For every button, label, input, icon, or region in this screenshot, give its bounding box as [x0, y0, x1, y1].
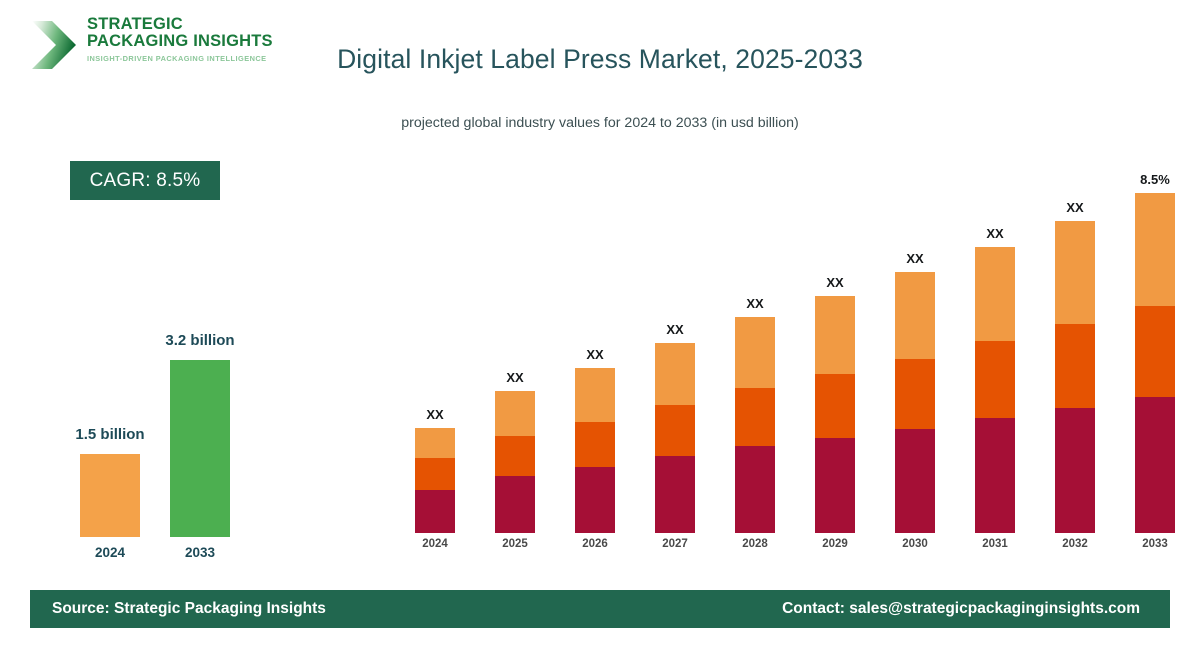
stacked-bar-segment-segment-top: [1055, 221, 1095, 324]
stacked-bar-segment-segment-bottom: [1055, 408, 1095, 533]
stacked-bar-column: XX2031: [975, 190, 1015, 550]
stacked-bar-value-label: XX: [565, 347, 625, 362]
stacked-bar-column: XX2027: [655, 190, 695, 550]
stacked-bar-value-label: XX: [725, 296, 785, 311]
stacked-bar-segment-segment-middle: [415, 458, 455, 490]
stacked-bar-column: XX2024: [415, 190, 455, 550]
stacked-bar-segment-segment-top: [975, 247, 1015, 341]
stacked-bar-year-label: 2032: [1045, 538, 1105, 550]
stacked-bar-segment-segment-top: [655, 343, 695, 405]
stacked-bar: [895, 272, 935, 533]
stacked-bar-segment-segment-bottom: [495, 476, 535, 533]
stacked-bar-column: XX2032: [1055, 190, 1095, 550]
stacked-bar-segment-segment-bottom: [1135, 397, 1175, 533]
stacked-bar-segment-segment-top: [735, 317, 775, 388]
stacked-bar-segment-segment-bottom: [895, 429, 935, 533]
stacked-bar-column: XX2030: [895, 190, 935, 550]
stacked-bar-year-label: 2025: [485, 538, 545, 550]
stacked-bar-segment-segment-bottom: [975, 418, 1015, 533]
stacked-bar-year-label: 2029: [805, 538, 865, 550]
stacked-bar-segment-segment-middle: [815, 374, 855, 438]
stacked-bar: [815, 296, 855, 533]
stacked-bar: [1135, 193, 1175, 533]
stacked-bar-year-label: 2030: [885, 538, 945, 550]
stacked-bar-column: 8.5%2033: [1135, 190, 1175, 550]
stacked-bar-segment-segment-middle: [895, 359, 935, 429]
stacked-bar-value-label: XX: [1045, 200, 1105, 215]
stacked-bar-segment-segment-top: [895, 272, 935, 359]
stacked-bar-column: XX2029: [815, 190, 855, 550]
stacked-bar: [495, 391, 535, 533]
stacked-bar-value-label: XX: [885, 251, 945, 266]
stacked-bar-segment-segment-bottom: [735, 446, 775, 533]
stacked-bar-segment-segment-top: [495, 391, 535, 436]
stacked-bar-segment-segment-top: [1135, 193, 1175, 306]
stacked-bar-column: XX2025: [495, 190, 535, 550]
stacked-bar-column: XX2028: [735, 190, 775, 550]
stacked-bar-value-label: XX: [965, 226, 1025, 241]
stacked-bar-segment-segment-middle: [575, 422, 615, 467]
stacked-bar-segment-segment-top: [575, 368, 615, 422]
stacked-bar-year-label: 2033: [1125, 538, 1185, 550]
infographic-page: STRATEGIC PACKAGING INSIGHTS INSIGHT-DRI…: [0, 0, 1200, 650]
stacked-bar-segment-segment-middle: [1055, 324, 1095, 408]
stacked-bar-year-label: 2024: [405, 538, 465, 550]
stacked-bar: [415, 428, 455, 533]
page-title: Digital Inkjet Label Press Market, 2025-…: [240, 44, 960, 75]
stacked-bar: [735, 317, 775, 533]
stacked-bar-segment-segment-top: [815, 296, 855, 374]
comparison-chart: 1.5 billion20243.2 billion2033: [0, 0, 320, 650]
stacked-bar-value-label: XX: [485, 370, 545, 385]
stacked-bar-segment-segment-middle: [975, 341, 1015, 418]
stacked-bar-year-label: 2028: [725, 538, 785, 550]
stacked-bar: [975, 247, 1015, 533]
stacked-bar-segment-segment-bottom: [655, 456, 695, 533]
stacked-bar: [575, 368, 615, 533]
comparison-bar-value-label: 1.5 billion: [30, 426, 190, 443]
stacked-bar-chart: XX2024XX2025XX2026XX2027XX2028XX2029XX20…: [400, 190, 1020, 550]
footer-source-text: Source: Strategic Packaging Insights: [52, 600, 326, 618]
stacked-bar-segment-segment-bottom: [815, 438, 855, 533]
stacked-bar-value-label: XX: [805, 275, 865, 290]
stacked-bar-segment-segment-middle: [1135, 306, 1175, 397]
stacked-bar-segment-segment-middle: [495, 436, 535, 476]
page-subtitle: projected global industry values for 202…: [240, 115, 960, 131]
comparison-bar-year-label: 2033: [140, 545, 260, 560]
stacked-bar-value-label: XX: [405, 407, 465, 422]
stacked-bar-column: XX2026: [575, 190, 615, 550]
stacked-bar-value-label: 8.5%: [1125, 172, 1185, 187]
stacked-bar: [655, 343, 695, 533]
stacked-bar-segment-segment-bottom: [575, 467, 615, 533]
comparison-bar: [80, 454, 140, 537]
stacked-bar-year-label: 2027: [645, 538, 705, 550]
stacked-bar-segment-segment-middle: [655, 405, 695, 456]
stacked-bar: [1055, 221, 1095, 533]
stacked-bar-value-label: XX: [645, 322, 705, 337]
stacked-bar-segment-segment-bottom: [415, 490, 455, 533]
stacked-bar-segment-segment-middle: [735, 388, 775, 446]
stacked-bar-year-label: 2031: [965, 538, 1025, 550]
footer-contact-text: Contact: sales@strategicpackaginginsight…: [782, 600, 1140, 618]
footer-bar: Source: Strategic Packaging Insights Con…: [30, 590, 1170, 628]
comparison-bar-value-label: 3.2 billion: [120, 332, 280, 349]
stacked-bar-year-label: 2026: [565, 538, 625, 550]
comparison-bar: [170, 360, 230, 537]
stacked-bar-segment-segment-top: [415, 428, 455, 458]
